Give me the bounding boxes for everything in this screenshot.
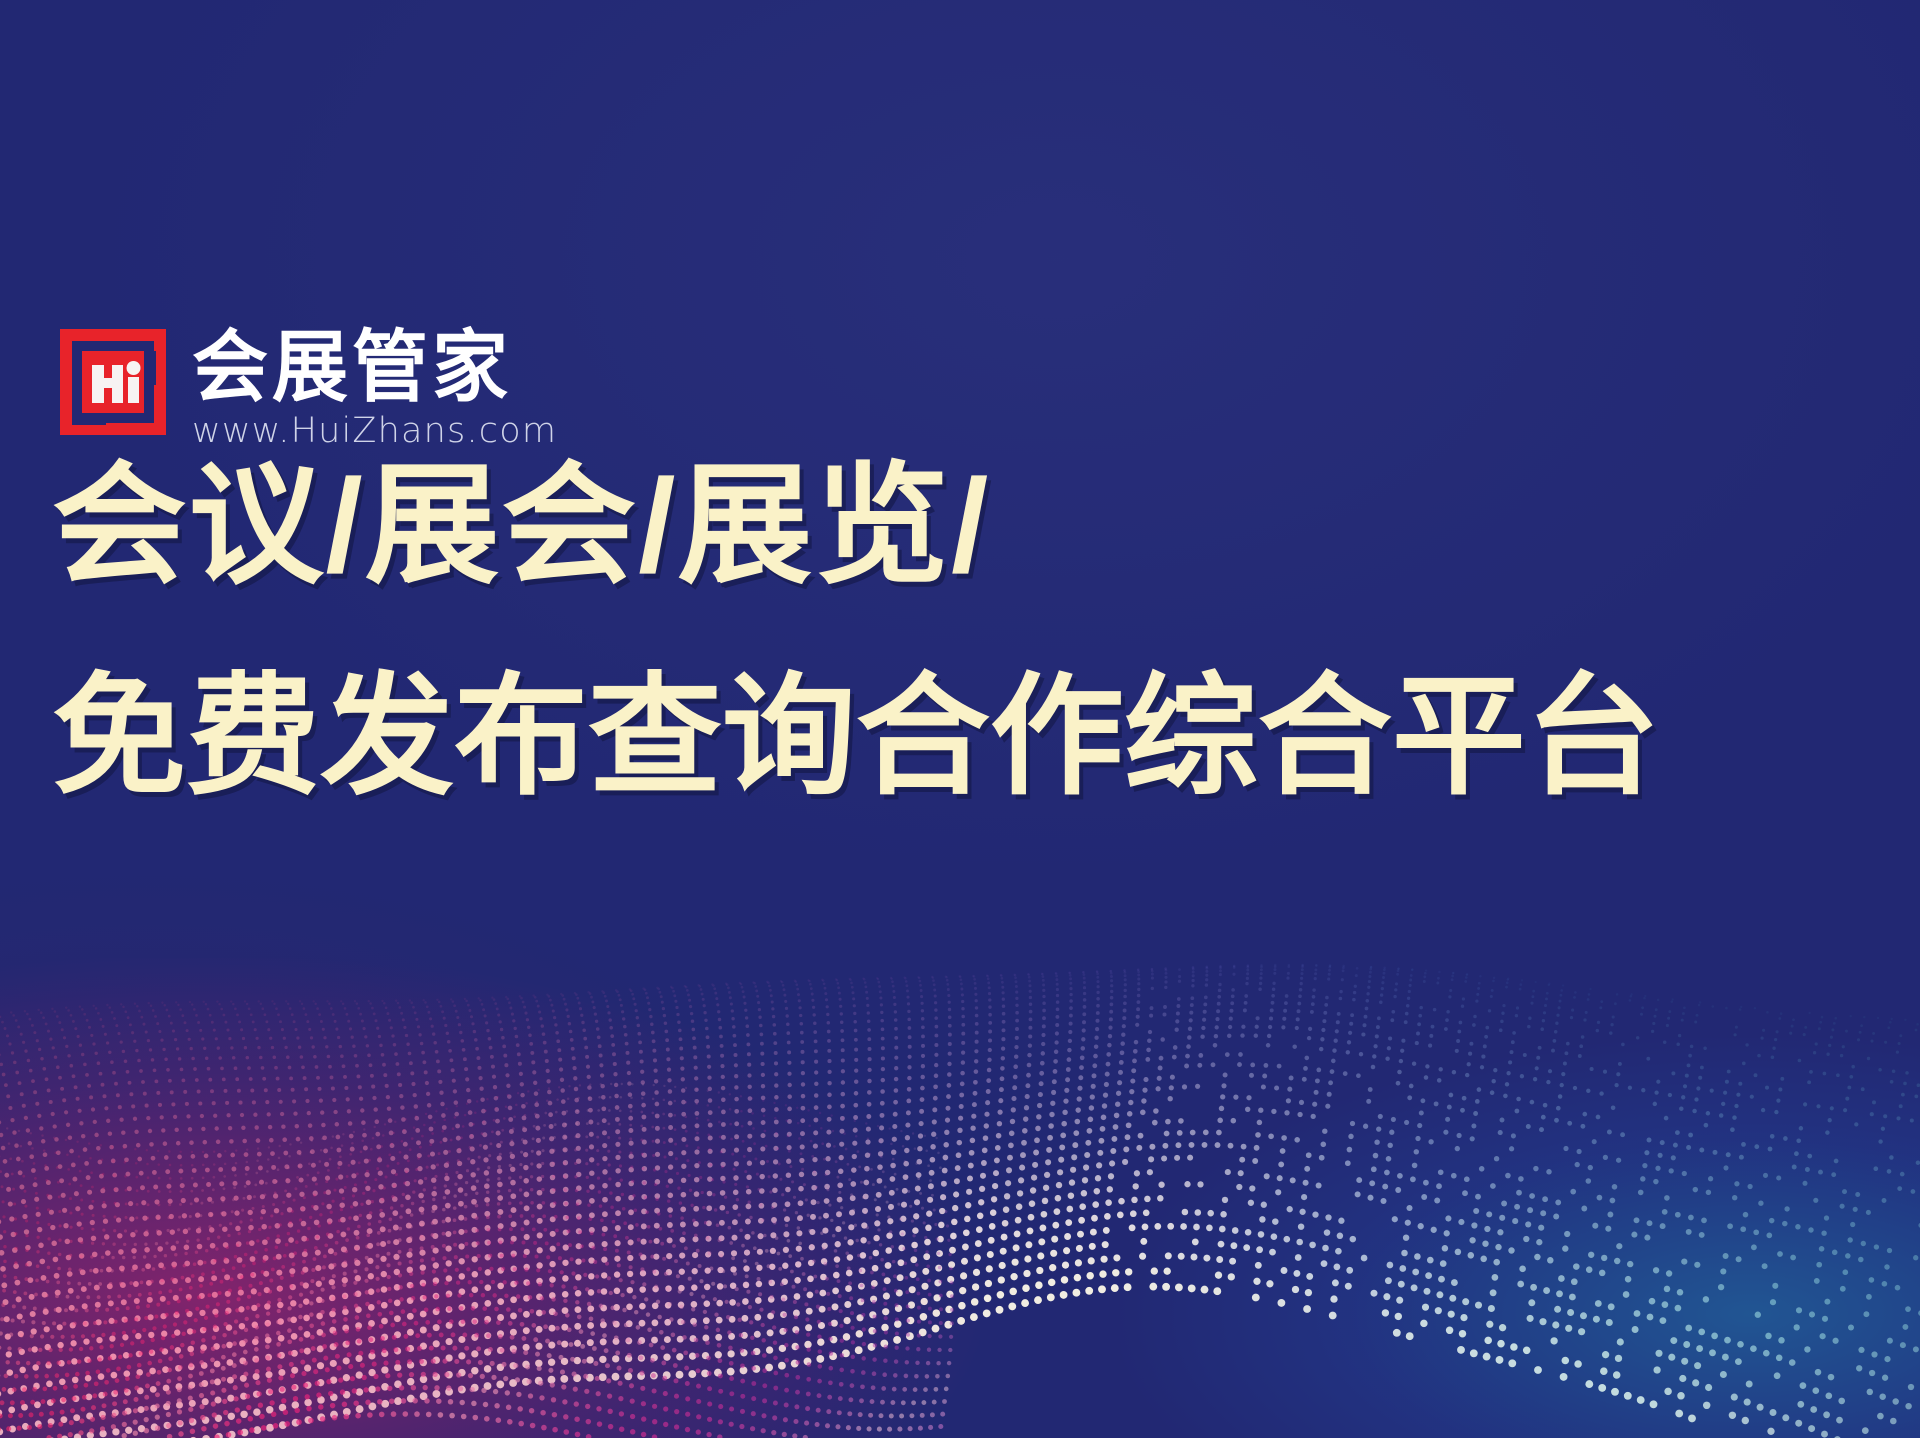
wave-particles-svg	[0, 818, 1920, 1438]
headline-line-2: 免费发布查询合作综合平台	[52, 642, 1899, 832]
poster-canvas: 会展管家 www.HuiZhans.com 会议/展会/展览/ 免费发布查询合作…	[0, 0, 1920, 1438]
particle-wave-graphic	[0, 818, 1920, 1438]
headline-block: 会议/展会/展览/ 免费发布查询合作综合平台	[52, 432, 1872, 832]
headline-line-1: 会议/展会/展览/	[52, 432, 1908, 620]
brand-name: 会展管家	[192, 327, 557, 409]
hi-monogram-square-icon	[58, 327, 168, 437]
